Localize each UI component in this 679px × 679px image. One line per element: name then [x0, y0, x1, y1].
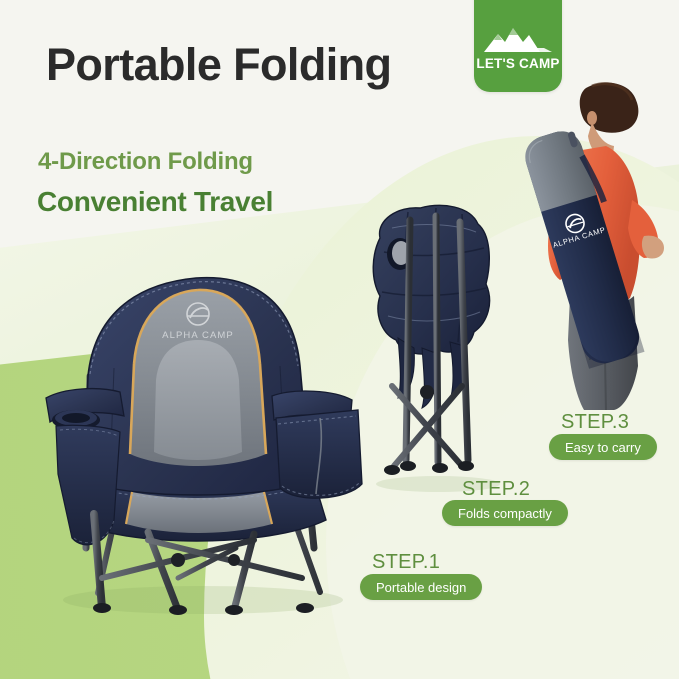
step-1-pill[interactable]: Portable design — [360, 574, 482, 600]
svg-text:ALPHA CAMP: ALPHA CAMP — [162, 330, 234, 341]
product-image-chair-open: ALPHA CAMP — [28, 248, 368, 620]
subheading-secondary: Convenient Travel — [37, 186, 273, 218]
page-title: Portable Folding — [46, 41, 391, 88]
product-image-person-carrying-bag: ALPHA CAMP — [508, 78, 679, 410]
step-2-label: STEP.2 — [462, 478, 530, 501]
product-image-chair-folded — [358, 198, 523, 498]
step-3-pill[interactable]: Easy to carry — [549, 434, 657, 460]
brand-badge-label: LET'S CAMP — [474, 56, 562, 71]
product-infographic-poster: Portable Folding 4-Direction Folding Con… — [0, 0, 679, 679]
step-1-label: STEP.1 — [372, 551, 440, 574]
mountain-icon — [482, 22, 554, 54]
step-2-pill[interactable]: Folds compactly — [442, 500, 568, 526]
subheading-primary: 4-Direction Folding — [38, 148, 253, 176]
step-3-label: STEP.3 — [561, 411, 629, 434]
